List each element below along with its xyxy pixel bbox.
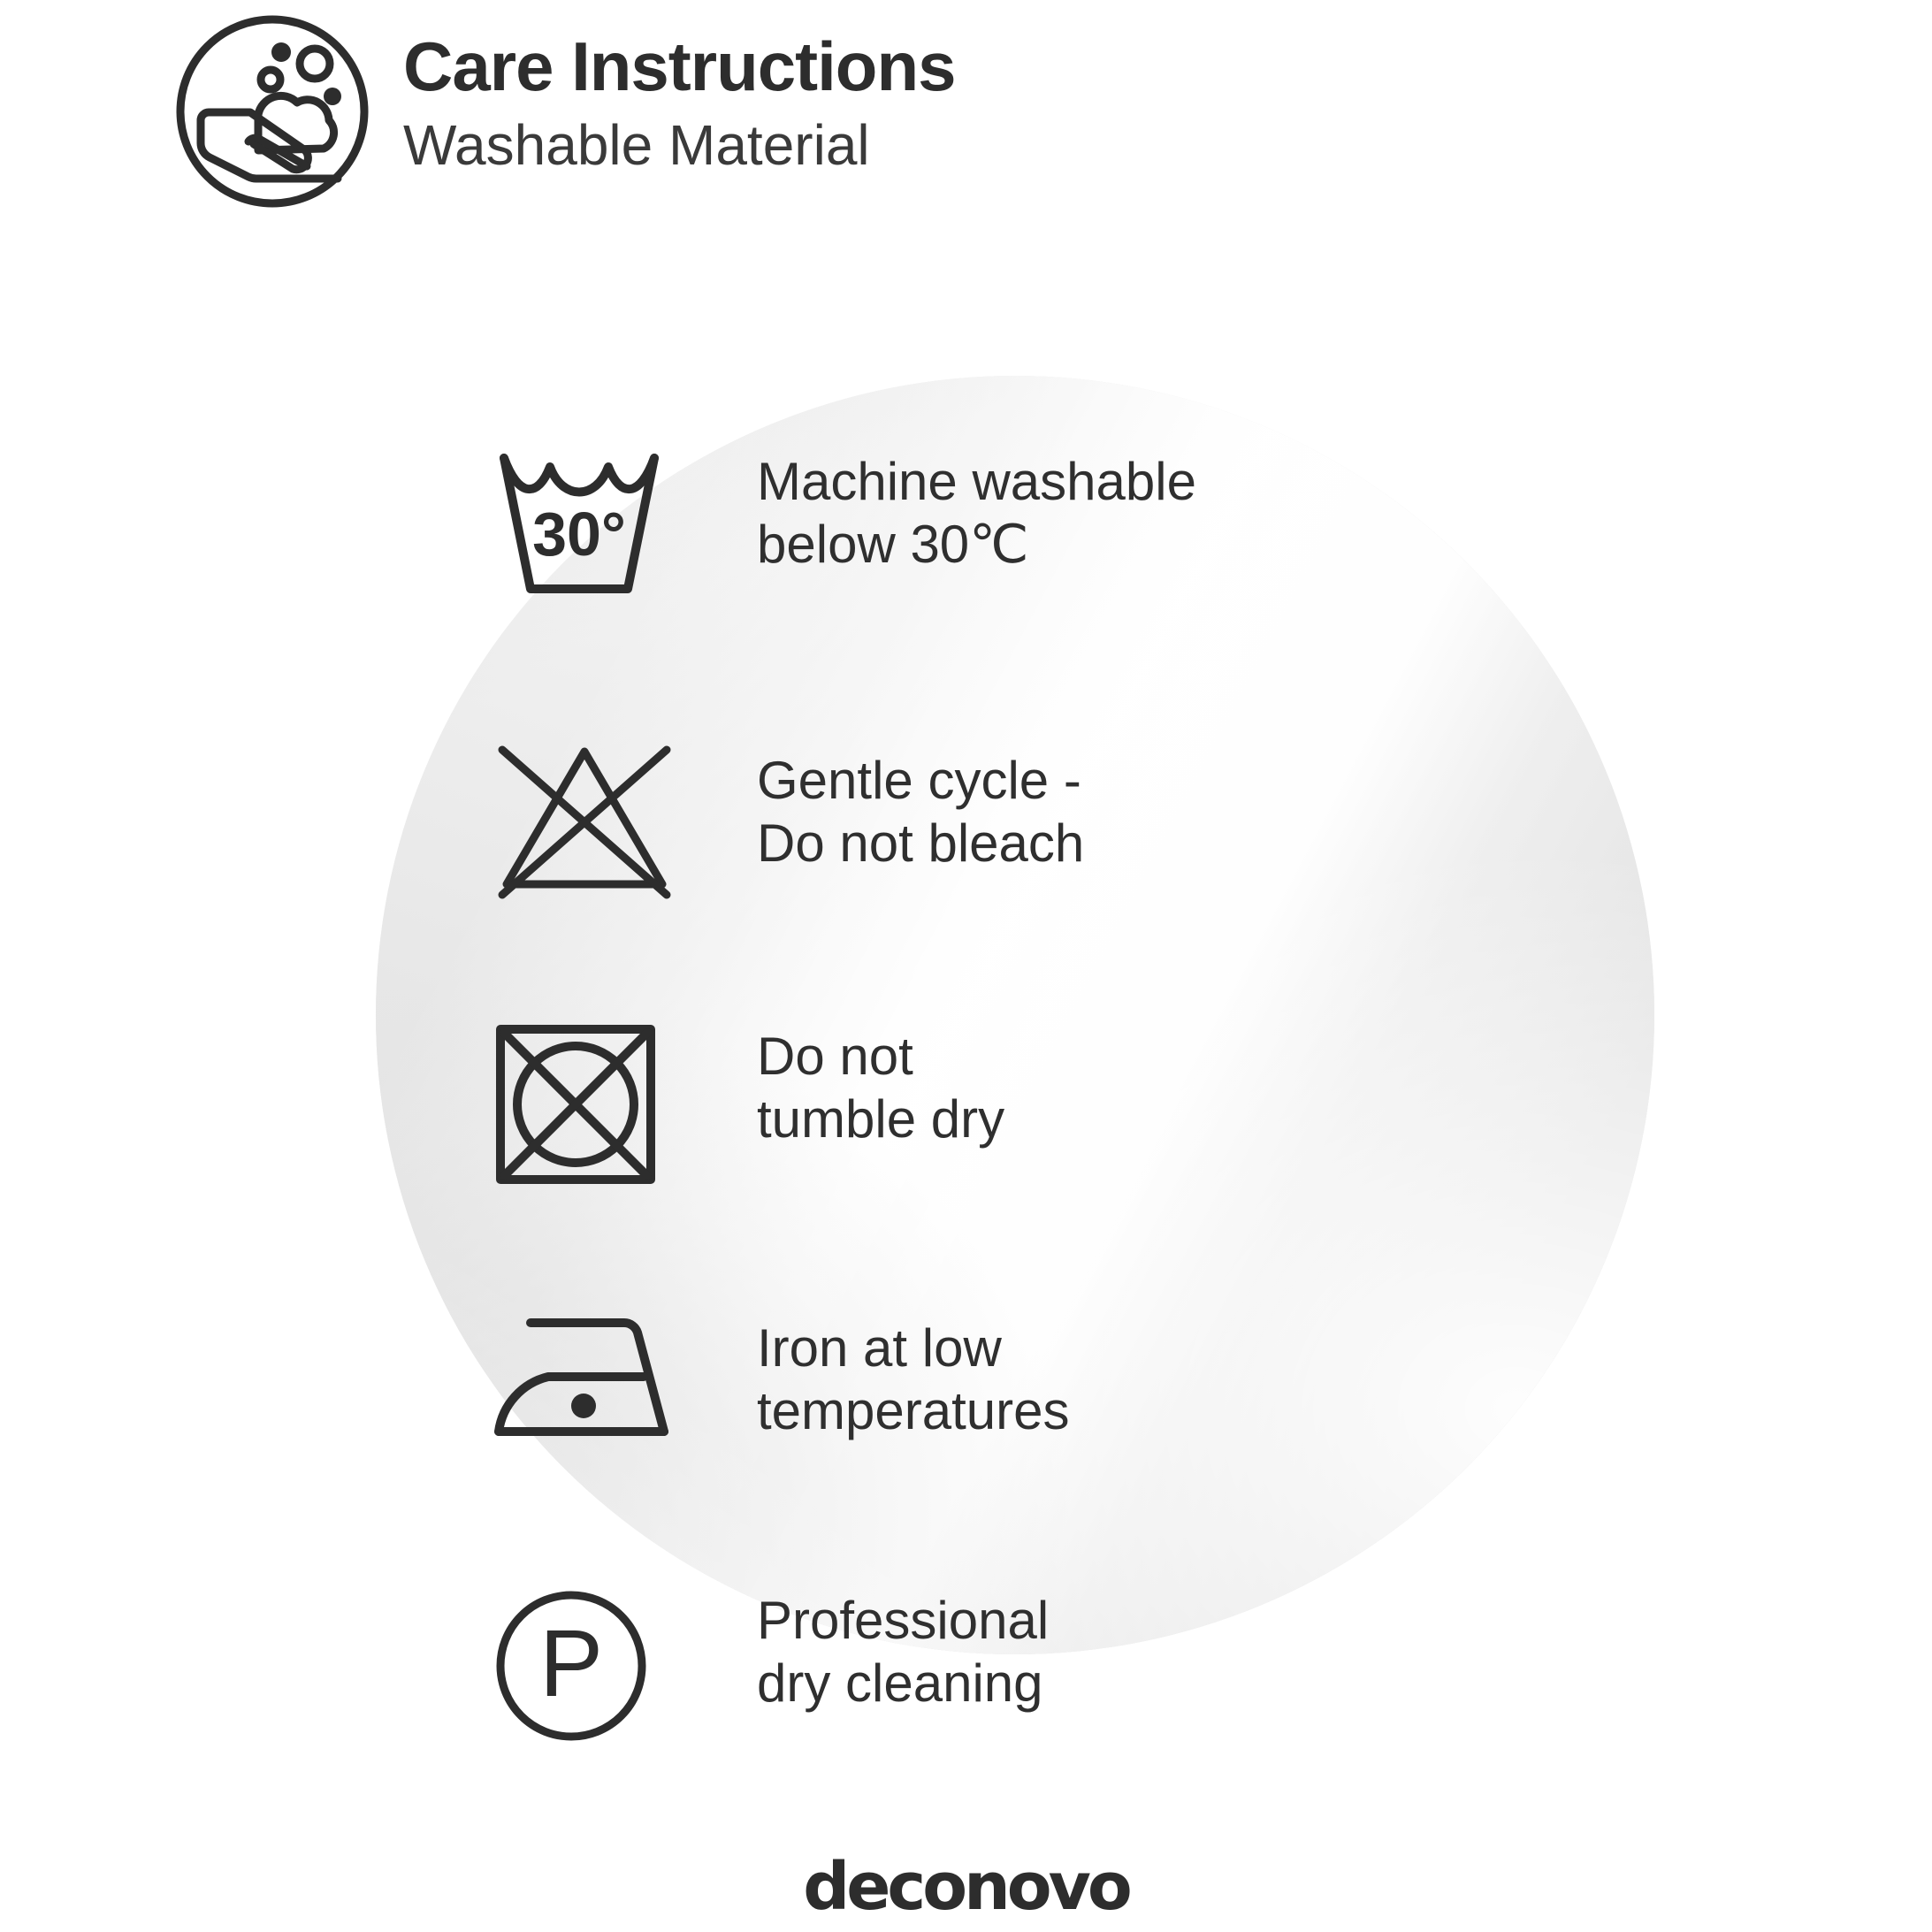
hand-wash-icon [173,12,371,210]
care-row-no-tumble-dry: Do not tumble dry [492,1008,1641,1291]
no-tumble-dry-icon [492,1008,757,1188]
brand-logo: deconovo [0,1849,1932,1925]
header: Care Instructions Washable Material [173,12,955,210]
care-row-iron-low: Iron at low temperatures [492,1291,1641,1574]
care-text-machine-wash: Machine washable below 30℃ [757,442,1196,577]
care-text-no-tumble-dry: Do not tumble dry [757,1008,1004,1151]
care-text-no-bleach: Gentle cycle - Do not bleach [757,725,1084,875]
care-row-no-bleach: Gentle cycle - Do not bleach [492,725,1641,1008]
care-text-iron-low: Iron at low temperatures [757,1291,1070,1443]
professional-dry-clean-p-icon: P [492,1574,757,1745]
page-subtitle: Washable Material [403,110,955,180]
care-instruction-list: 30° Machine washable below 30℃ Gentle cy… [492,442,1641,1857]
care-row-dry-clean: P Professional dry cleaning [492,1574,1641,1857]
dry-clean-letter: P [539,1609,603,1716]
wash-tub-30-icon: 30° [492,442,757,602]
care-row-machine-wash: 30° Machine washable below 30℃ [492,442,1641,725]
page-title: Care Instructions [403,32,955,101]
iron-low-temp-icon [492,1291,757,1448]
care-text-dry-clean: Professional dry cleaning [757,1574,1049,1715]
no-bleach-triangle-icon [492,725,757,902]
wash-temp-label: 30° [532,500,626,569]
